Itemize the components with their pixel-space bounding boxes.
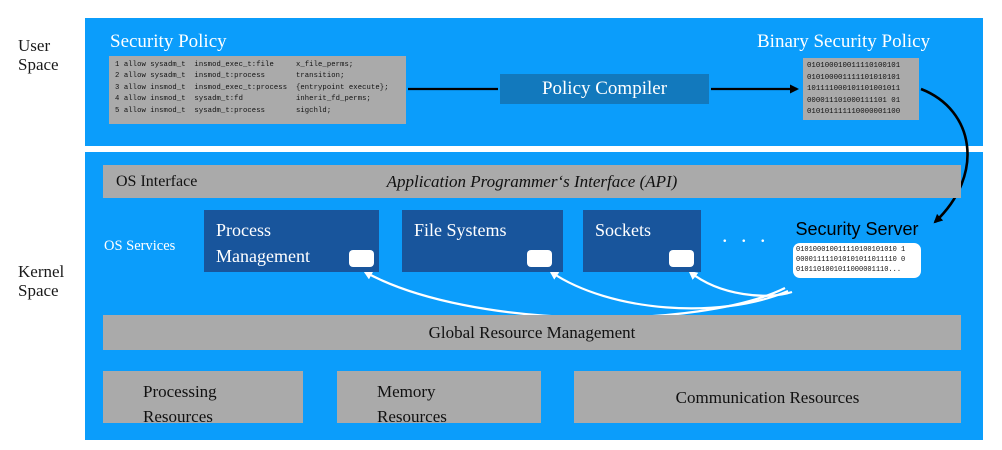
policy-compiler-label: Policy Compiler [542,78,667,100]
services-ellipsis: . . . [722,222,770,248]
resource-box-communication: Communication Resources [574,371,961,423]
diagram-canvas: User Space Kernel Space Security Policy … [0,0,1002,450]
security-server-binary-text: 010100010011110100101010 1 0000111110101… [796,245,918,276]
service-label-sockets: Sockets [595,220,651,240]
security-policy-title: Security Policy [110,31,227,53]
security-policy-code-box: 1 allow sysadm_t insmod_exec_t:file x_fi… [109,56,406,124]
security-server-title: Security Server [783,217,931,241]
service-label-process-management: Process Management [216,220,310,266]
service-box-security-server[interactable]: Security Server 010100010011110100101010… [783,212,931,286]
api-label: Application Programmer‘s Interface (API) [103,172,961,192]
service-label-file-systems: File Systems [414,220,507,240]
hook-icon-process-management[interactable] [349,250,374,267]
binary-security-policy-box: 010100010011110100101 010100001111101010… [803,58,919,120]
resource-box-processing: Processing Resources [103,371,303,423]
binary-security-policy-title: Binary Security Policy [757,31,930,53]
user-space-label: User Space [18,36,59,74]
kernel-space-label: Kernel Space [18,262,64,300]
security-policy-code-text: 1 allow sysadm_t insmod_exec_t:file x_fi… [115,60,400,117]
policy-compiler-box[interactable]: Policy Compiler [500,74,709,104]
resource-label-processing: Processing Resources [143,382,217,426]
global-resource-management-label: Global Resource Management [429,323,636,343]
os-interface-bar: OS Interface Application Programmer‘s In… [103,165,961,198]
resource-label-communication: Communication Resources [676,385,860,410]
global-resource-management-bar: Global Resource Management [103,315,961,350]
security-server-binary-box: 010100010011110100101010 1 0000111110101… [793,243,921,278]
hook-icon-sockets[interactable] [669,250,694,267]
hook-icon-file-systems[interactable] [527,250,552,267]
os-services-label: OS Services [104,238,175,255]
binary-security-policy-text: 010100010011110100101 010100001111101010… [807,61,915,119]
resource-box-memory: Memory Resources [337,371,541,423]
resource-label-memory: Memory Resources [377,382,447,426]
